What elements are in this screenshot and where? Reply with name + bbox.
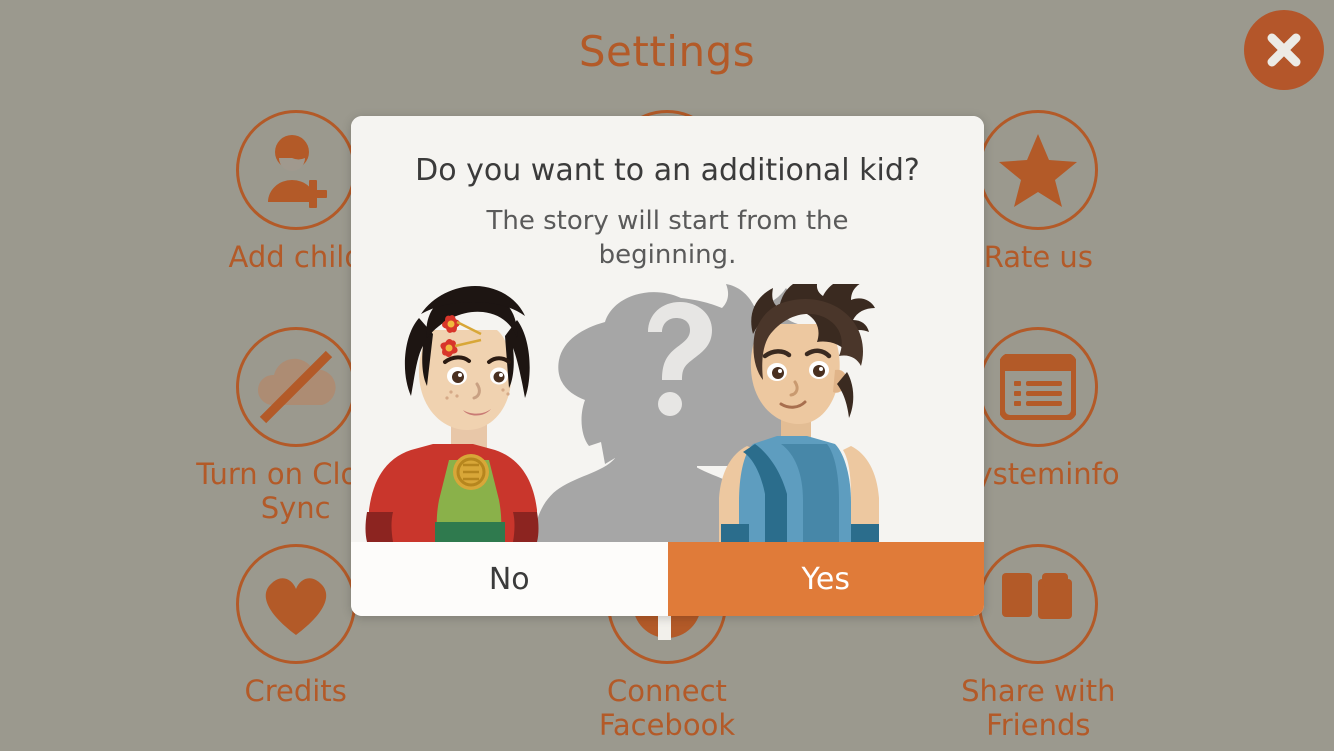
modal-overlay: Do you want to an additional kid? The st… <box>0 0 1334 750</box>
additional-kid-dialog: Do you want to an additional kid? The st… <box>351 116 984 616</box>
dialog-body: Do you want to an additional kid? The st… <box>351 116 984 542</box>
no-button[interactable]: No <box>351 542 668 616</box>
dialog-title: Do you want to an additional kid? <box>371 152 964 190</box>
girl-character <box>366 286 539 542</box>
dialog-message: The story will start from the beginning. <box>421 204 914 272</box>
dialog-illustration <box>351 284 984 542</box>
dialog-actions: No Yes <box>351 542 984 616</box>
yes-button[interactable]: Yes <box>668 542 985 616</box>
